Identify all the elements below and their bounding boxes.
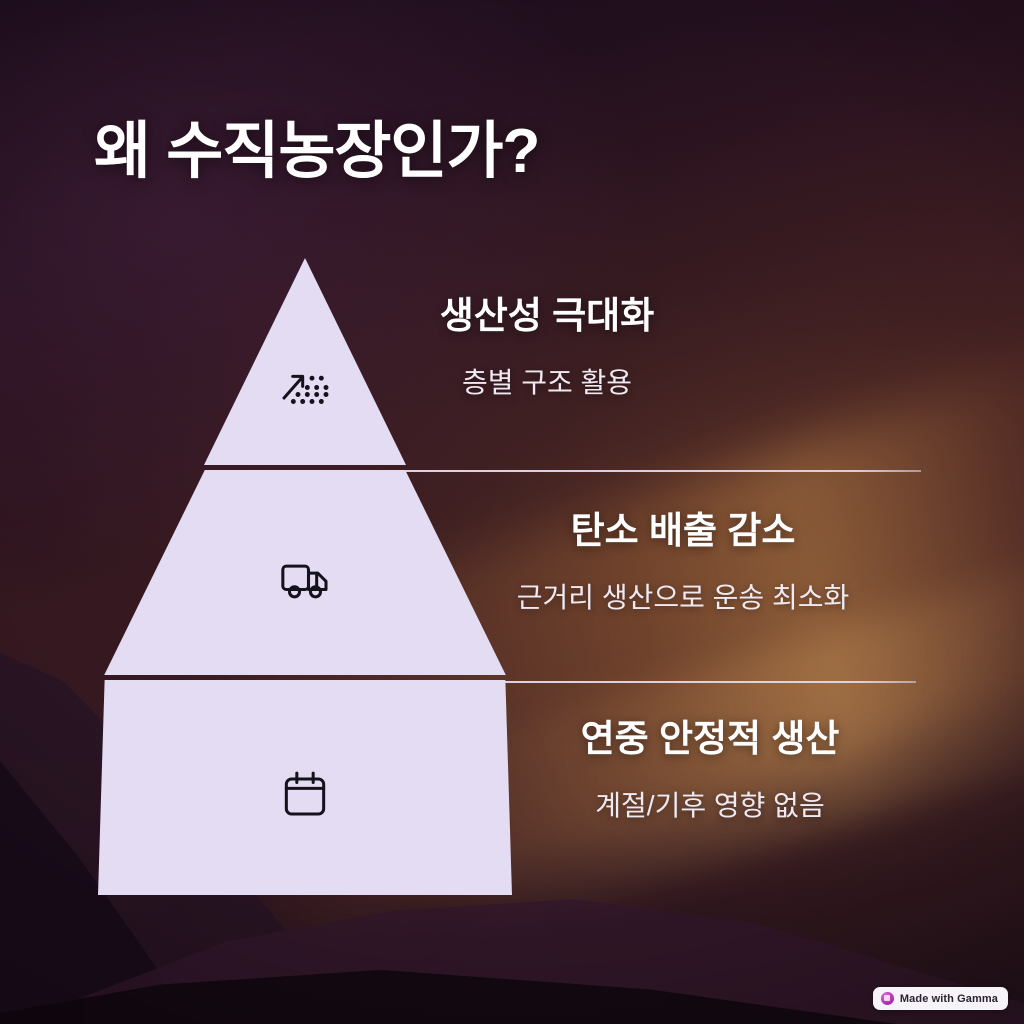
gamma-logo-icon — [881, 992, 894, 1005]
gamma-badge-label: Made with Gamma — [900, 993, 998, 1005]
tier-2-content: 탄소 배출 감소 근거리 생산으로 운송 최소화 — [477, 508, 889, 617]
page-title: 왜 수직농장인가? — [94, 118, 539, 186]
tier-3-content: 연중 안정적 생산 계절/기후 영향 없음 — [545, 716, 875, 825]
tier-3-title: 연중 안정적 생산 — [545, 716, 875, 762]
tier-1-content: 생산성 극대화 층별 구조 활용 — [405, 293, 689, 402]
divider-tier-2-3 — [452, 681, 916, 683]
divider-tier-1-2 — [385, 470, 921, 472]
slide-canvas: 왜 수직농장인가? — [0, 0, 1024, 1024]
tier-2-subtitle: 근거리 생산으로 운송 최소화 — [477, 580, 889, 616]
tier-1-subtitle: 층별 구조 활용 — [405, 365, 689, 401]
made-with-gamma-badge[interactable]: Made with Gamma — [873, 987, 1008, 1010]
chart-growth-arrow-icon — [274, 360, 336, 422]
delivery-truck-icon — [274, 548, 336, 610]
calendar-icon — [274, 762, 336, 824]
tier-1-title: 생산성 극대화 — [405, 293, 689, 339]
tier-3-subtitle: 계절/기후 영향 없음 — [545, 788, 875, 824]
tier-2-title: 탄소 배출 감소 — [477, 508, 889, 554]
